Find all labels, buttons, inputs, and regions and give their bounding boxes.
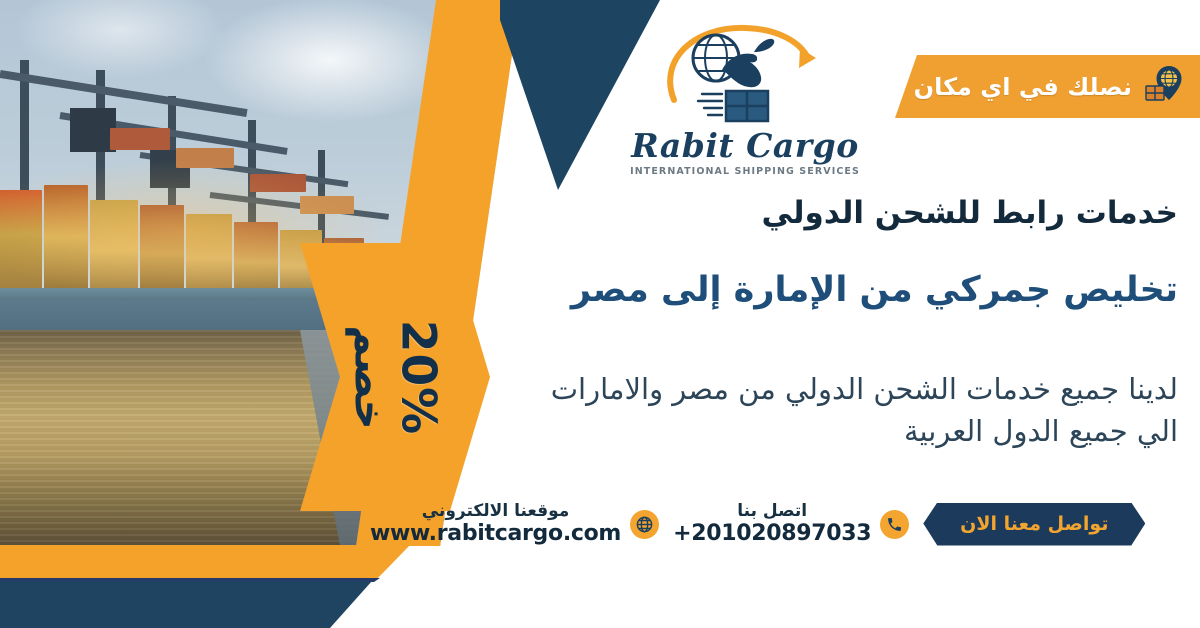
contact-bar: تواصل معنا الان اتصل بنا +201020897033 <box>370 496 1190 552</box>
reach-anywhere-ribbon: نصلك في اي مكان <box>895 55 1200 118</box>
brand-logo: Rabit Cargo INTERNATIONAL SHIPPING SERVI… <box>595 18 895 198</box>
container-row <box>250 174 306 192</box>
location-pin-globe-package-icon <box>1142 64 1184 110</box>
container-row <box>176 148 234 168</box>
phone-icon <box>880 510 909 539</box>
ribbon-label: نصلك في اي مكان <box>914 73 1132 101</box>
body-description: لدينا جميع خدمات الشحن الدولي من مصر وال… <box>538 368 1178 452</box>
container-stack <box>90 200 138 300</box>
logo-mark-icon <box>650 18 840 130</box>
globe-icon <box>630 510 659 539</box>
contact-cta-button[interactable]: تواصل معنا الان <box>923 503 1145 546</box>
phone-number: +201020897033 <box>673 521 871 546</box>
eyebrow-heading: خدمات رابط للشحن الدولي <box>538 195 1178 231</box>
discount-word: خصم <box>349 319 391 435</box>
container-row <box>110 128 170 150</box>
logo-tagline: INTERNATIONAL SHIPPING SERVICES <box>630 166 860 177</box>
page-title: تخليص جمركي من الإمارة إلى مصر <box>538 270 1178 310</box>
container-stack <box>44 185 88 300</box>
website-contact[interactable]: موقعنا الالكتروني www.rabitcargo.com <box>370 502 659 547</box>
banner-root: 20% خصم نصلك في اي مكان <box>0 0 1200 628</box>
footer-navy-bar <box>0 581 1200 628</box>
cta-label: تواصل معنا الان <box>960 513 1108 535</box>
container-stack <box>0 190 42 300</box>
container-row <box>300 196 354 214</box>
phone-label: اتصل بنا <box>673 502 871 522</box>
phone-contact[interactable]: اتصل بنا +201020897033 <box>673 502 909 547</box>
discount-percent: 20% <box>395 319 442 435</box>
website-label: موقعنا الالكتروني <box>370 502 621 522</box>
logo-wordmark: Rabit Cargo <box>631 126 859 165</box>
website-url: www.rabitcargo.com <box>370 521 621 546</box>
container-stack <box>140 205 184 301</box>
